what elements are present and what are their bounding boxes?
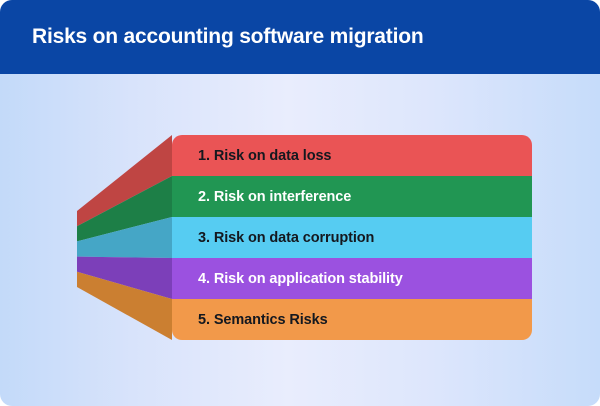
funnel-side-wedges [77,135,172,340]
funnel-row-label-5: 5. Semantics Risks [198,313,328,328]
funnel-row-label-3: 3. Risk on data corruption [198,231,374,246]
infographic-card: Risks on accounting software migration 1… [0,0,600,406]
funnel-row-label-1: 1. Risk on data loss [198,149,331,164]
funnel-row-label-4: 4. Risk on application stability [198,272,403,287]
funnel-row-label-2: 2. Risk on interference [198,190,351,205]
